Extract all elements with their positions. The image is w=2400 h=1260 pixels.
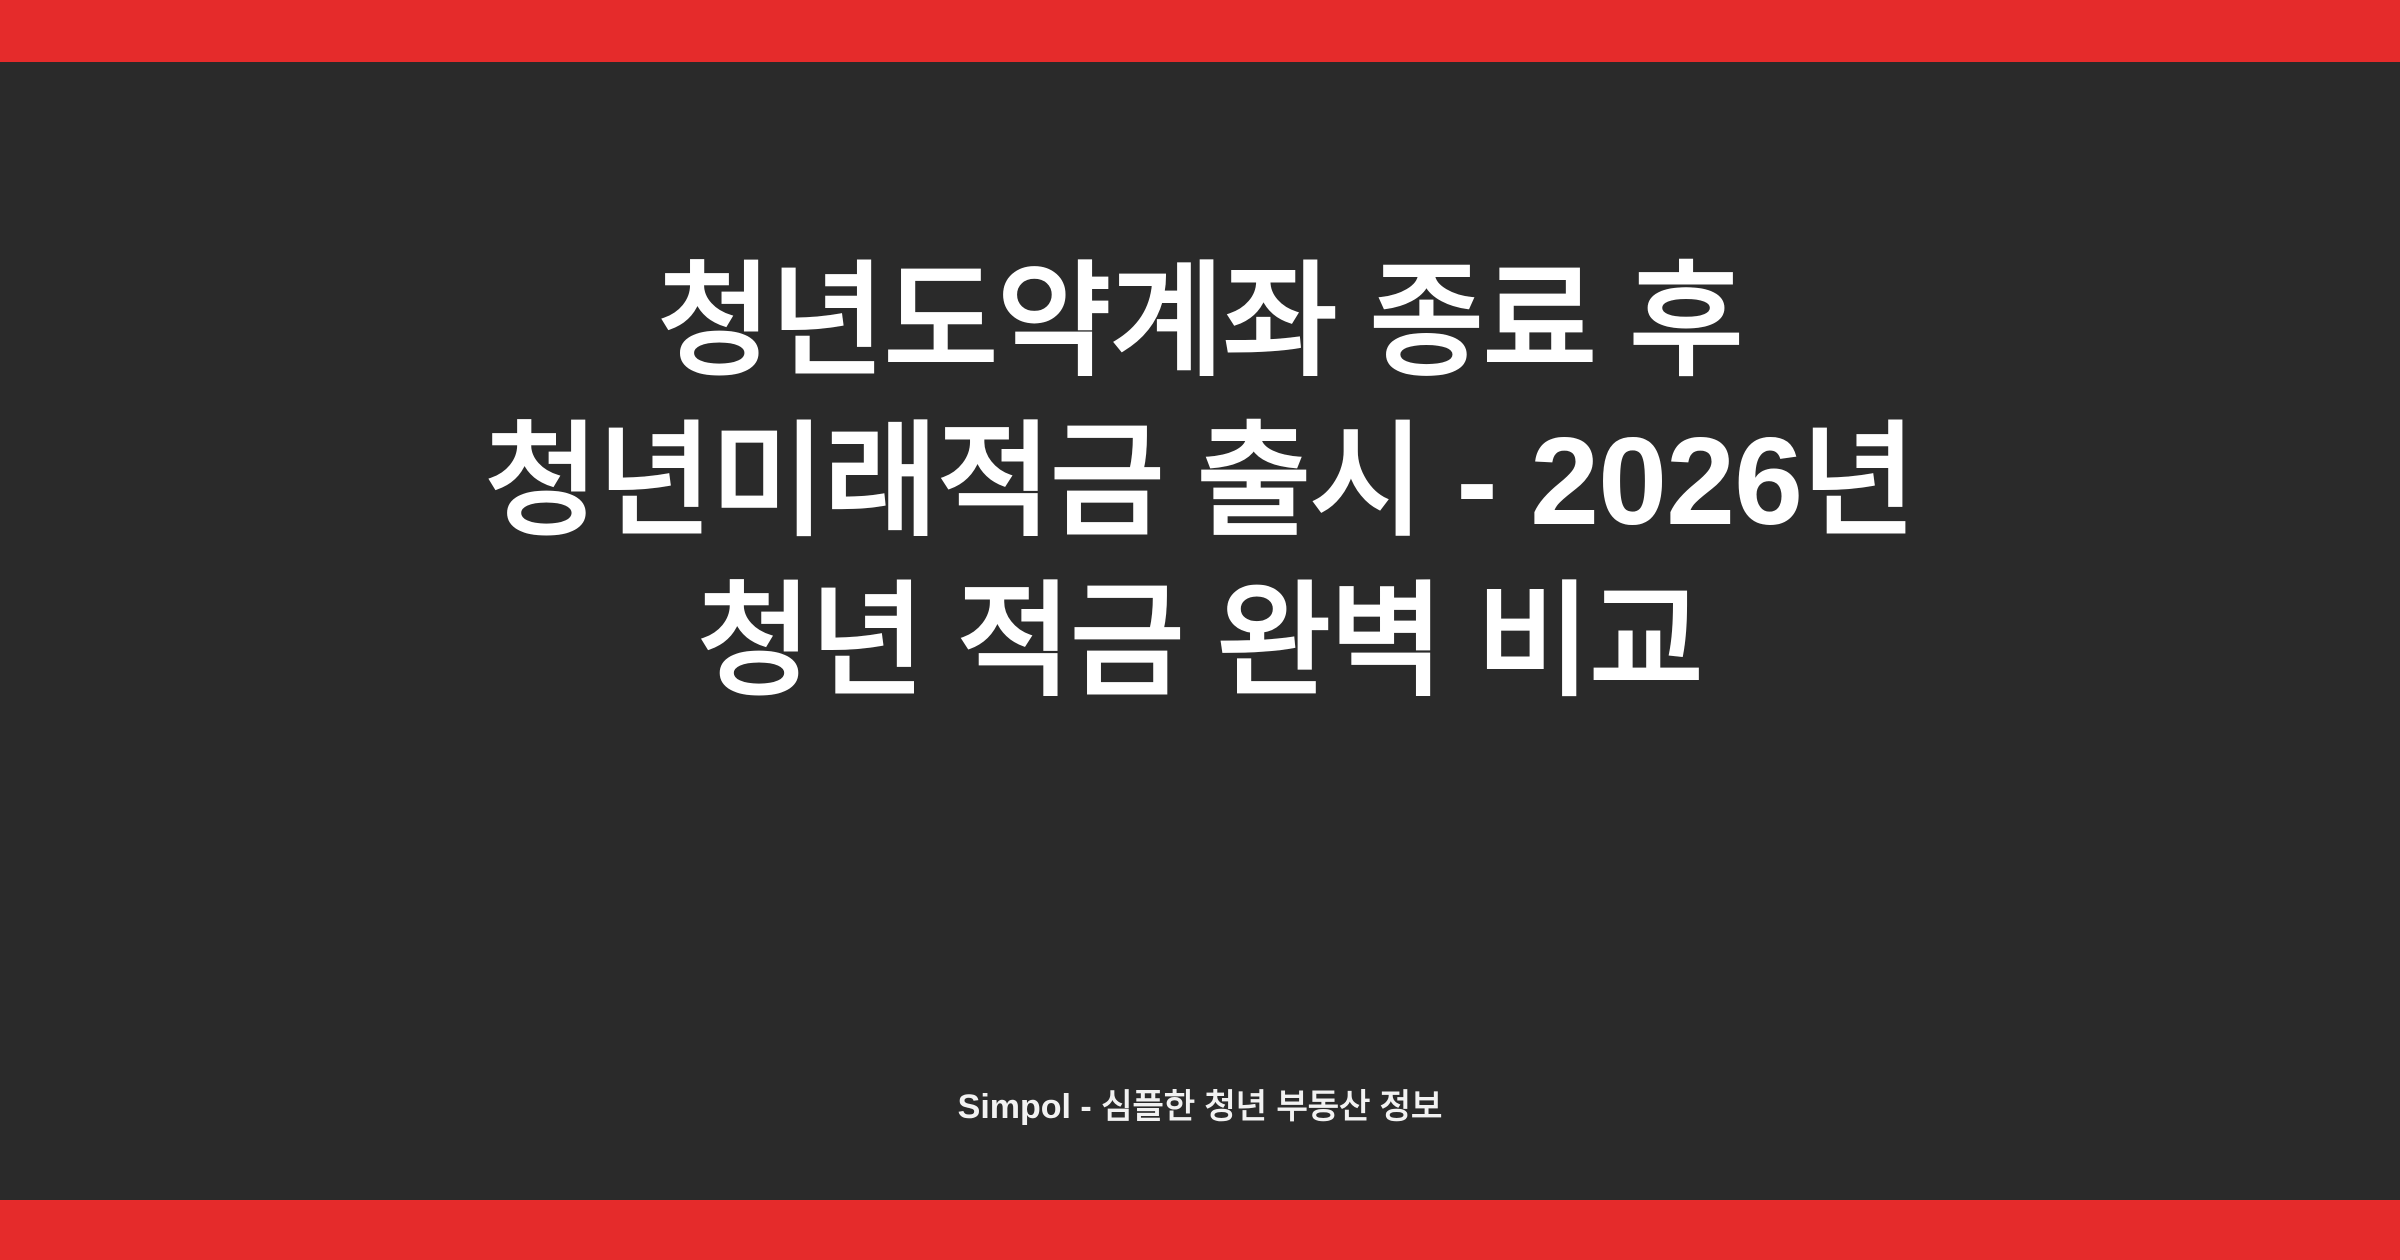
page-title: 청년도약계좌 종료 후 청년미래적금 출시 - 2026년 청년 적금 완벽 비… bbox=[0, 242, 2400, 722]
title-line-3: 청년 적금 완벽 비교 bbox=[698, 562, 1703, 722]
title-line-1: 청년도약계좌 종료 후 bbox=[658, 242, 1743, 402]
top-accent-bar bbox=[0, 0, 2400, 62]
title-line-2: 청년미래적금 출시 - 2026년 bbox=[485, 402, 1915, 562]
card-body: 청년도약계좌 종료 후 청년미래적금 출시 - 2026년 청년 적금 완벽 비… bbox=[0, 62, 2400, 1200]
bottom-accent-bar bbox=[0, 1200, 2400, 1260]
thumbnail-card: 청년도약계좌 종료 후 청년미래적금 출시 - 2026년 청년 적금 완벽 비… bbox=[0, 0, 2400, 1260]
footer-brand-text: Simpol - 심플한 청년 부동산 정보 bbox=[958, 1079, 1443, 1128]
footer: Simpol - 심플한 청년 부동산 정보 bbox=[0, 1079, 2400, 1128]
